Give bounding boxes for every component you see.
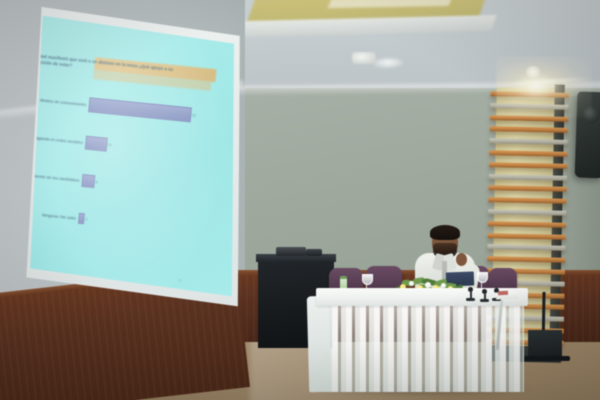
bar-value-label: 8 — [95, 180, 97, 184]
bar: 8 — [81, 174, 95, 188]
projection-screen: Usted manifestó que votó o se abstuvo en… — [26, 0, 234, 312]
papers-red-marker — [498, 291, 508, 296]
projection-screen-assembly: Usted manifestó que votó o se abstuvo en… — [0, 0, 250, 330]
bar: 72 — [88, 97, 192, 122]
speaker-hand — [456, 253, 467, 266]
white-flower — [409, 281, 414, 286]
slide-page-number: 5 — [179, 279, 181, 283]
bar: 14 — [85, 136, 108, 152]
bar-category-label: Ninguna / No sabe — [42, 212, 79, 221]
bar-value-label: 14 — [107, 143, 111, 147]
conference-room-photo: Usted manifestó que votó o se abstuvo en… — [0, 0, 600, 400]
light-source-icon — [526, 66, 540, 78]
trolley-equipment-box-2 — [306, 249, 322, 256]
trolley-equipment-box — [276, 247, 306, 256]
bar-chart-row: Por la información de los candidatos8 — [81, 170, 83, 190]
stand-foot — [524, 356, 570, 361]
bar-chart-row: Medios de comunicación72 — [88, 95, 90, 115]
table-skirt-shading — [318, 304, 524, 392]
floor-equipment-box — [528, 330, 562, 358]
ceiling-light-flare — [496, 56, 592, 118]
bar-value-label: 3 — [85, 217, 87, 221]
speaker-hair — [430, 225, 460, 240]
bar-chart-row: Propaganda en redes sociales14 — [84, 133, 86, 153]
bar-category-label: Medios de comunicación — [40, 97, 89, 107]
bar-chart-row: Ninguna / No sabe3 — [78, 208, 80, 228]
bar: 3 — [78, 213, 85, 225]
bar-value-label: 72 — [191, 113, 195, 117]
projected-slide: Usted manifestó que votó o se abstuvo en… — [26, 0, 233, 312]
ceiling-vent — [352, 52, 376, 64]
table-drape-left — [307, 296, 332, 393]
